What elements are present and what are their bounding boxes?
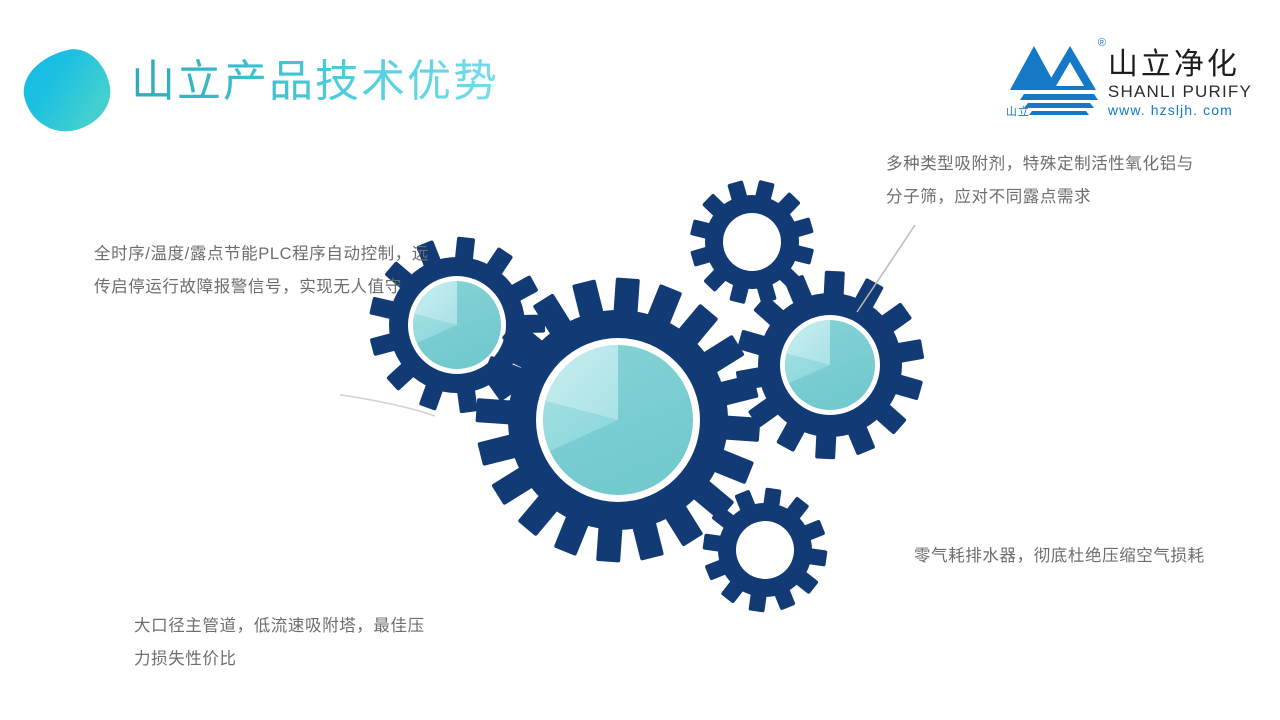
callout-plc-control: 全时序/温度/露点节能PLC程序自动控制，远传启停运行故障报警信号，实现无人值守 xyxy=(94,238,444,304)
leader-line-right xyxy=(857,225,915,312)
logo-mark-label: 山立 xyxy=(1006,106,1030,118)
decorative-blob xyxy=(17,43,118,139)
callout-zero-air-loss-drain: 零气耗排水器，彻底杜绝压缩空气损耗 xyxy=(914,540,1224,573)
page-title: 山立产品技术优势 xyxy=(131,52,499,112)
mountain-logo-icon: ® 山立 xyxy=(1006,38,1102,116)
brand-name-en: SHANLI PURIFY xyxy=(1108,82,1252,102)
brand-website: www. hzsljh. com xyxy=(1108,102,1252,119)
brand-logo: ® 山立 山立净化 SHANLI PURIFY www. hzsljh. com xyxy=(1006,38,1252,118)
brand-logo-text: 山立净化 SHANLI PURIFY www. hzsljh. com xyxy=(1108,38,1252,119)
brand-name-cn: 山立净化 xyxy=(1108,48,1252,82)
callout-adsorbent-types: 多种类型吸附剂，特殊定制活性氧化铝与分子筛，应对不同露点需求 xyxy=(886,148,1206,214)
callout-large-diameter-pipe: 大口径主管道，低流速吸附塔，最佳压力损失性价比 xyxy=(134,610,434,676)
registered-trademark-icon: ® xyxy=(1098,38,1106,49)
slide-header: 山立产品技术优势 ® 山立 山立净化 SHANLI PURIFY www. hz… xyxy=(0,0,1280,140)
